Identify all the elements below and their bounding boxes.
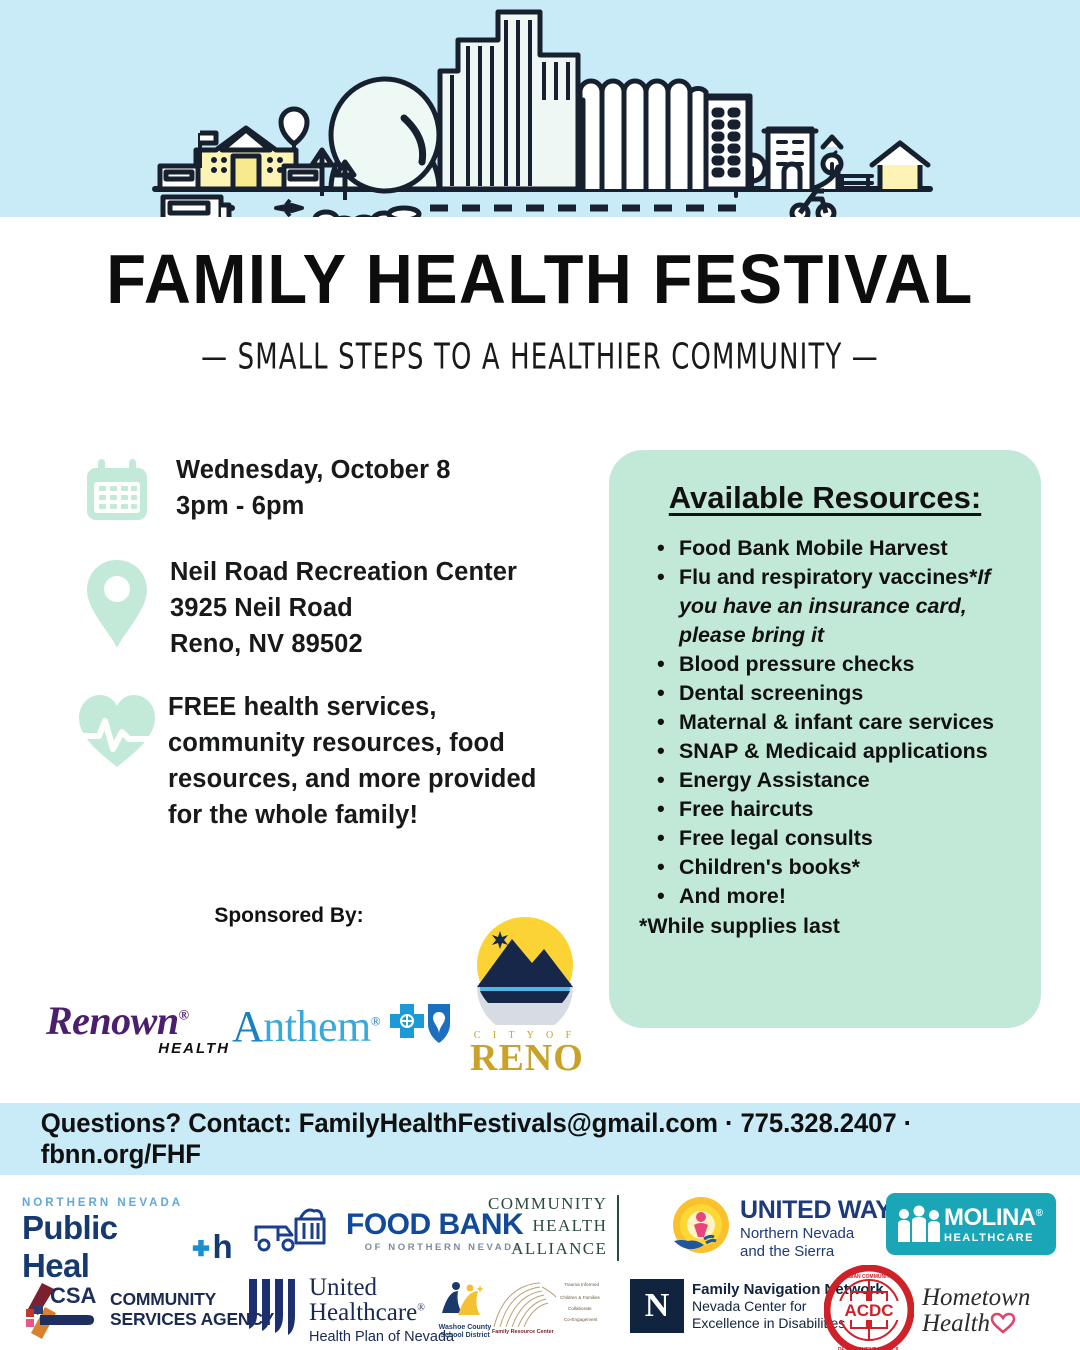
cha-divider bbox=[617, 1195, 619, 1261]
medical-cross-icon bbox=[191, 1234, 213, 1260]
svg-text:Trauma Informed: Trauma Informed bbox=[564, 1282, 600, 1287]
svg-text:Children & Families: Children & Families bbox=[560, 1295, 601, 1300]
svg-text:ACDC: ACDC bbox=[844, 1301, 893, 1320]
cha-line-1: COMMUNITY bbox=[488, 1193, 607, 1215]
molina-people-icon bbox=[896, 1204, 942, 1244]
heart-outline-icon bbox=[990, 1312, 1016, 1334]
molina-healthcare-logo: MOLINA® HEALTHCARE bbox=[886, 1193, 1056, 1255]
detail-row-location: Neil Road Recreation Center 3925 Neil Ro… bbox=[58, 554, 588, 663]
hometown-health-logo: Hometown Health bbox=[922, 1285, 1030, 1336]
list-item: SNAP & Medicaid applications bbox=[657, 737, 1019, 766]
event-details: Wednesday, October 8 3pm - 6pm Neil Road… bbox=[58, 452, 588, 859]
cha-line-2: HEALTH bbox=[488, 1215, 607, 1237]
cha-line-3: ALLIANCE bbox=[488, 1238, 607, 1260]
available-resources-panel: Available Resources: Food Bank Mobile Ha… bbox=[609, 450, 1041, 1028]
hth-line-1: Hometown bbox=[922, 1285, 1030, 1311]
sponsor-logos: Renown® HEALTH Anthem® bbox=[20, 905, 590, 1075]
calendar-icon bbox=[81, 456, 153, 528]
location-line-3: Reno, NV 89502 bbox=[170, 626, 517, 662]
nevada-n-badge: N bbox=[630, 1279, 684, 1333]
northern-nevada-public-health-logo: NORTHERN NEVADA Public Heal h bbox=[22, 1197, 232, 1285]
svg-text:ASIAN COMMUNITY: ASIAN COMMUNITY bbox=[845, 1274, 893, 1280]
blue-cross-blue-shield-icon bbox=[388, 1002, 454, 1052]
united-way-sub-1: Northern Nevada bbox=[740, 1225, 892, 1243]
header-band bbox=[0, 0, 1080, 217]
food-bank-of-northern-nevada-logo: FOOD BANK OF NORTHERN NEVADA bbox=[248, 1201, 523, 1259]
date-line-1: Wednesday, October 8 bbox=[176, 452, 451, 488]
frc-label: Family Resource Center bbox=[492, 1329, 555, 1335]
bcbs-cross-shield-icon bbox=[388, 1002, 454, 1052]
united-way-logo: UNITED WAY Northern Nevada and the Sierr… bbox=[668, 1195, 892, 1261]
uhc-shield-icon bbox=[245, 1275, 303, 1337]
partner-row-1: NORTHERN NEVADA Public Heal h bbox=[0, 1187, 1080, 1267]
partner-logos: NORTHERN NEVADA Public Heal h bbox=[0, 1185, 1080, 1350]
anthem-logo: Anthem® bbox=[232, 1001, 454, 1052]
heart-pulse-icon bbox=[75, 691, 159, 771]
community-health-alliance-logo: COMMUNITY HEALTH ALLIANCE bbox=[488, 1193, 607, 1260]
csa-pinwheel-icon: CSA bbox=[20, 1279, 106, 1341]
contact-bar: Questions? Contact: FamilyHealthFestival… bbox=[0, 1103, 1080, 1175]
detail-row-description: FREE health services, community resource… bbox=[58, 689, 588, 834]
renown-health-logo: Renown® HEALTH bbox=[46, 997, 236, 1057]
location-pin-icon bbox=[81, 556, 153, 652]
calendar-icon-wrap bbox=[58, 452, 176, 528]
acdc-seal-icon: ACDC ASIAN COMMUNITY DEVELOPMENT COUNCIL bbox=[824, 1265, 914, 1350]
frc-rays-icon: Trauma Informed Children & Families Coll… bbox=[486, 1277, 616, 1335]
list-item: Energy Assistance bbox=[657, 766, 1019, 795]
heartbeat-icon-wrap bbox=[58, 689, 176, 771]
molina-subtext: HEALTHCARE bbox=[944, 1232, 1043, 1244]
community-services-agency-logo: CSA COMMUNITY SERVICES AGENCY bbox=[20, 1279, 274, 1341]
page-title: FAMILY HEALTH FESTIVAL bbox=[38, 243, 1042, 317]
united-way-wordmark: UNITED WAY bbox=[740, 1196, 892, 1225]
page-subtitle: — SMALL STEPS TO A HEALTHIER COMMUNITY — bbox=[22, 337, 1059, 378]
list-item: Blood pressure checks bbox=[657, 650, 1019, 679]
city-of-reno-seal-icon bbox=[470, 915, 580, 1025]
contact-text[interactable]: Questions? Contact: FamilyHealthFestival… bbox=[0, 1108, 1048, 1170]
reno-wordmark: RENO bbox=[470, 1041, 580, 1075]
reno-skyline-illustration bbox=[0, 0, 1080, 217]
molina-wordmark: MOLINA® bbox=[944, 1204, 1043, 1232]
date-line-2: 3pm - 6pm bbox=[176, 488, 451, 524]
partner-row-2: CSA COMMUNITY SERVICES AGENCY bbox=[0, 1273, 1080, 1347]
resources-list: Food Bank Mobile Harvest Flu and respira… bbox=[657, 534, 1019, 911]
list-item: Maternal & infant care services bbox=[657, 708, 1019, 737]
list-item: Flu and respiratory vaccines*If you have… bbox=[657, 563, 1019, 650]
list-item: Food Bank Mobile Harvest bbox=[657, 534, 1019, 563]
location-line-1: Neil Road Recreation Center bbox=[170, 554, 517, 590]
detail-row-date: Wednesday, October 8 3pm - 6pm bbox=[58, 452, 588, 528]
svg-text:Collaborate: Collaborate bbox=[568, 1306, 592, 1311]
list-item: Children's books* bbox=[657, 853, 1019, 882]
united-healthcare-logo: United Healthcare® Health Plan of Nevada… bbox=[245, 1275, 454, 1350]
location-text: Neil Road Recreation Center 3925 Neil Ro… bbox=[170, 554, 517, 663]
renown-wordmark: Renown® bbox=[46, 997, 236, 1044]
food-truck-icon bbox=[248, 1201, 340, 1259]
location-pin-icon-wrap bbox=[58, 554, 176, 652]
description-text: FREE health services, community resource… bbox=[168, 689, 568, 834]
united-way-sub-2: and the Sierra bbox=[740, 1243, 892, 1261]
resources-title: Available Resources: bbox=[631, 480, 1019, 516]
svg-text:Co-Engagement: Co-Engagement bbox=[564, 1317, 598, 1322]
location-line-2: 3925 Neil Road bbox=[170, 590, 517, 626]
nnph-top-text: NORTHERN NEVADA bbox=[22, 1197, 232, 1209]
acdc-logo: ACDC ASIAN COMMUNITY DEVELOPMENT COUNCIL bbox=[824, 1265, 914, 1350]
svg-text:CSA: CSA bbox=[50, 1283, 97, 1308]
list-item: And more! bbox=[657, 882, 1019, 911]
resources-footnote: *While supplies last bbox=[639, 914, 1019, 939]
united-way-hand-icon bbox=[668, 1195, 734, 1261]
poster-root: FAMILY HEALTH FESTIVAL — SMALL STEPS TO … bbox=[0, 0, 1080, 1350]
family-resource-center-logo: Trauma Informed Children & Families Coll… bbox=[486, 1277, 616, 1340]
list-item: Dental screenings bbox=[657, 679, 1019, 708]
list-item: Free legal consults bbox=[657, 824, 1019, 853]
date-text: Wednesday, October 8 3pm - 6pm bbox=[176, 452, 451, 524]
list-item: Free haircuts bbox=[657, 795, 1019, 824]
city-of-reno-logo: C I T Y O F RENO bbox=[470, 915, 580, 1075]
hth-line-2: Health bbox=[922, 1311, 1030, 1337]
anthem-wordmark: Anthem® bbox=[232, 1001, 380, 1052]
